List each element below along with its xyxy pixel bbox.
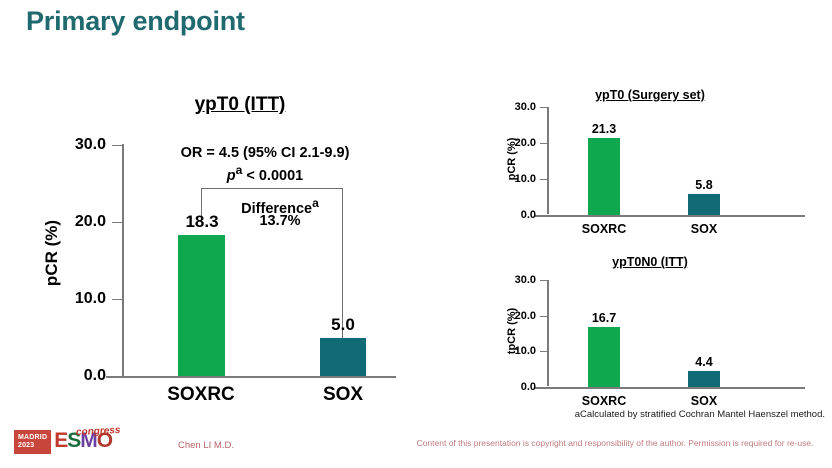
madrid-badge-line1: MADRID	[18, 434, 47, 442]
bar-main-sox[interactable]	[320, 338, 366, 376]
x-axis-line-ypt0n0	[535, 387, 805, 389]
esmo-letter-e: E	[54, 429, 67, 452]
p-italic: p	[227, 168, 236, 184]
chart-title-main: ypT0 (ITT)	[90, 94, 390, 116]
difference-superscript: a	[312, 196, 319, 210]
y-tick-tr-30	[540, 107, 548, 108]
bar-value-tr-sox: 5.8	[669, 178, 739, 192]
y-axis-label-ypt0n0: tpCR (%)	[506, 276, 518, 386]
y-tick-br-30	[540, 280, 548, 281]
y-tick-br-0	[540, 387, 548, 388]
footnote: aCalculated by stratified Cochran Mantel…	[480, 409, 825, 420]
chart-title-surgery-set: ypT0 (Surgery set)	[540, 88, 760, 102]
copyright-notice: Content of this presentation is copyrigh…	[405, 438, 825, 448]
y-tick-tr-10	[540, 179, 548, 180]
bar-value-br-sox: 4.4	[669, 355, 739, 369]
y-axis-line-ypt0n0	[547, 280, 549, 386]
bar-br-soxrc[interactable]	[588, 327, 620, 387]
y-tick-br-10	[540, 351, 548, 352]
y-tick-br-20	[540, 316, 548, 317]
congress-wordmark: congress	[76, 425, 121, 438]
bar-main-soxrc[interactable]	[178, 235, 225, 376]
presenter-name: Chen LI M.D.	[178, 440, 234, 451]
bar-value-main-soxrc: 18.3	[157, 212, 247, 232]
y-axis-label-surgery-set: pCR (%)	[506, 104, 518, 214]
bar-value-tr-soxrc: 21.3	[569, 122, 639, 136]
x-category-tr-soxrc: SOXRC	[549, 222, 659, 236]
x-axis-line-main	[106, 376, 396, 378]
y-tick-label-main-0: 0.0	[46, 367, 106, 385]
madrid-2023-badge: MADRID 2023	[14, 430, 51, 454]
y-tick-main-10	[112, 299, 123, 300]
p-rest: < 0.0001	[242, 168, 303, 184]
chart-ypt0-surgery-set: ypT0 (Surgery set) 30.0 20.0 10.0 0.0 pC…	[460, 80, 832, 250]
y-tick-tr-0	[540, 215, 548, 216]
bar-br-sox[interactable]	[688, 371, 720, 387]
chart-ypt0n0-itt: ypT0N0 (ITT) 30.0 20.0 10.0 0.0 tpCR (%)…	[460, 250, 832, 420]
x-category-br-soxrc: SOXRC	[549, 394, 659, 408]
y-tick-main-20	[112, 222, 123, 223]
x-category-tr-sox: SOX	[649, 222, 759, 236]
x-category-main-soxrc: SOXRC	[121, 384, 281, 406]
madrid-badge-line2: 2023	[18, 442, 47, 450]
annotation-p-value: pa < 0.0001	[130, 163, 400, 184]
y-tick-main-30	[112, 145, 123, 146]
bracket-top-line	[201, 188, 343, 189]
x-axis-line-surgery-set	[535, 215, 805, 217]
bar-tr-soxrc[interactable]	[588, 138, 620, 215]
y-tick-tr-20	[540, 143, 548, 144]
y-axis-line-surgery-set	[547, 107, 549, 214]
y-tick-label-main-30: 30.0	[46, 136, 106, 154]
chart-ypt0-itt: ypT0 (ITT) 30.0 20.0 10.0 0.0 pCR (%) OR…	[0, 0, 450, 420]
y-tick-main-0	[112, 376, 123, 377]
bar-value-main-sox: 5.0	[298, 315, 388, 335]
y-axis-label-main: pCR (%)	[42, 198, 62, 308]
bar-value-br-soxrc: 16.7	[569, 311, 639, 325]
x-category-br-sox: SOX	[649, 394, 759, 408]
bar-tr-sox[interactable]	[688, 194, 720, 215]
x-category-main-sox: SOX	[263, 384, 423, 406]
annotation-odds-ratio: OR = 4.5 (95% CI 2.1-9.9)	[130, 145, 400, 161]
chart-title-ypt0n0: ypT0N0 (ITT)	[540, 255, 760, 269]
y-axis-line-main	[122, 144, 124, 378]
